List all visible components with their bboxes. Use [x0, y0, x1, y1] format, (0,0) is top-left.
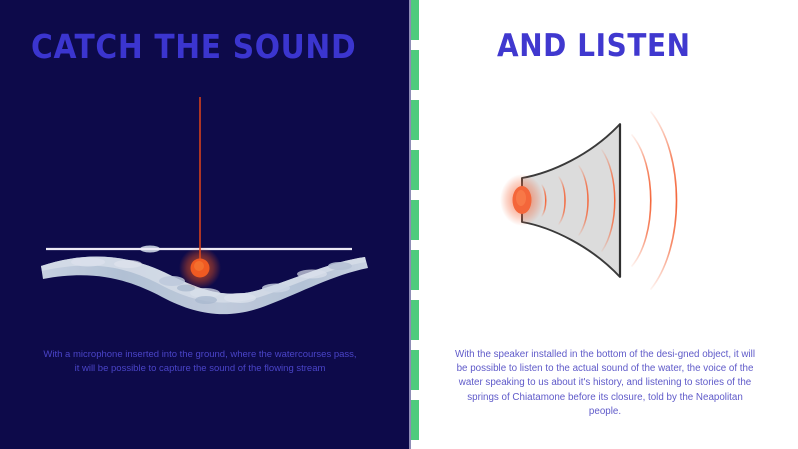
slide-canvas: CATCH THE SOUND With a microphone insert… [0, 0, 798, 449]
dashed-green-divider [411, 0, 419, 449]
left-panel-caption: With a microphone inserted into the grou… [42, 348, 358, 376]
sound-source-dot-icon [500, 174, 544, 226]
left-illustration [0, 0, 411, 449]
right-panel-title: AND LISTEN [497, 28, 691, 64]
right-panel-caption: With the speaker installed in the bottom… [452, 348, 758, 419]
left-panel-title: CATCH THE SOUND [31, 27, 356, 66]
sensor-dot-icon [179, 247, 221, 289]
speaker-outer-waves-icon [632, 112, 677, 289]
